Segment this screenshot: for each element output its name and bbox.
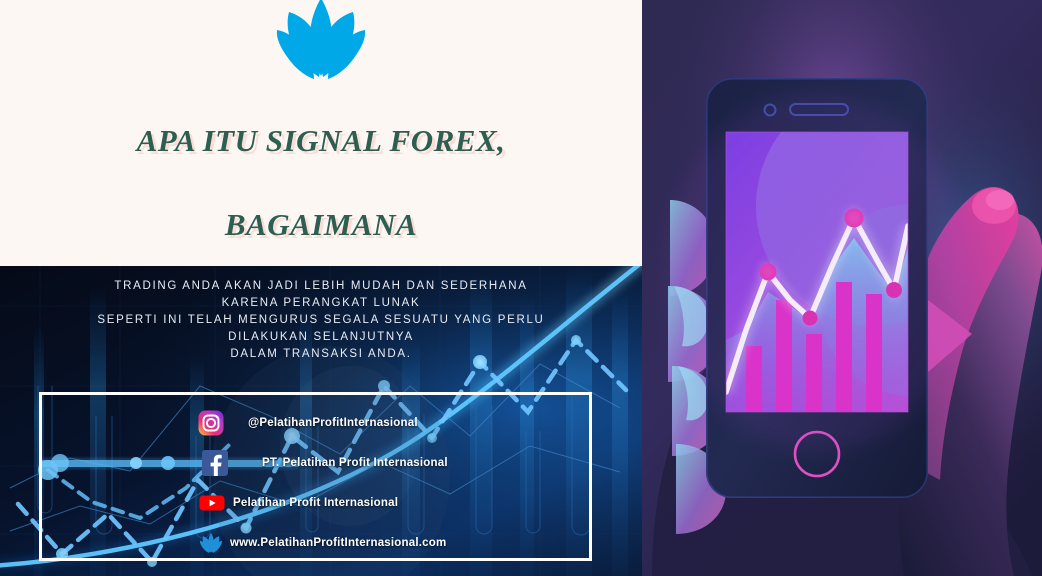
title-line-1: APA ITU SIGNAL FOREX, <box>0 120 642 162</box>
lotus-flower-icon <box>269 0 373 82</box>
blurb-line-3: SEPERTI INI TELAH MENGURUS SEGALA SESUAT… <box>0 312 642 329</box>
contact-row-instagram[interactable]: @PelatihanProfitInternasional <box>198 406 580 440</box>
lotus-flower-icon[interactable] <box>198 530 224 556</box>
contact-label-facebook: PT. Pelatihan Profit Internasional <box>262 457 448 469</box>
smartphone-illustration <box>642 0 1042 576</box>
contact-label-youtube: Pelatihan Profit Internasional <box>233 497 398 509</box>
contact-row-youtube[interactable]: Pelatihan Profit Internasional <box>199 486 580 520</box>
left-column: APA ITU SIGNAL FOREX, BAGAIMANA MANFAAT … <box>0 0 642 576</box>
blurb-text: TRADING ANDA AKAN JADI LEBIH MUDAH DAN S… <box>0 278 642 363</box>
contact-label-instagram: @PelatihanProfitInternasional <box>248 417 418 429</box>
blurb-line-2: KARENA PERANGKAT LUNAK <box>0 295 642 312</box>
title-line-2: BAGAIMANA <box>0 204 642 246</box>
poster-canvas: APA ITU SIGNAL FOREX, BAGAIMANA MANFAAT … <box>0 0 1042 576</box>
blurb-line-5: DALAM TRANSAKSI ANDA. <box>0 346 642 363</box>
contact-label-website: www.PelatihanProfitInternasional.com <box>230 537 446 549</box>
instagram-icon[interactable] <box>198 410 224 436</box>
contact-row-website[interactable]: www.PelatihanProfitInternasional.com <box>198 526 580 560</box>
contact-row-facebook[interactable]: PT. Pelatihan Profit Internasional <box>202 446 580 480</box>
blurb-line-4: DILAKUKAN SELANJUTNYA <box>0 329 642 346</box>
blurb-line-1: TRADING ANDA AKAN JADI LEBIH MUDAH DAN S… <box>0 278 642 295</box>
youtube-icon[interactable] <box>199 490 225 516</box>
hero-section: APA ITU SIGNAL FOREX, BAGAIMANA MANFAAT … <box>0 0 642 266</box>
facebook-icon[interactable] <box>202 450 228 476</box>
page-title: APA ITU SIGNAL FOREX, BAGAIMANA MANFAAT … <box>0 78 642 266</box>
contact-list: @PelatihanProfitInternasional PT. Pelati… <box>160 406 580 566</box>
